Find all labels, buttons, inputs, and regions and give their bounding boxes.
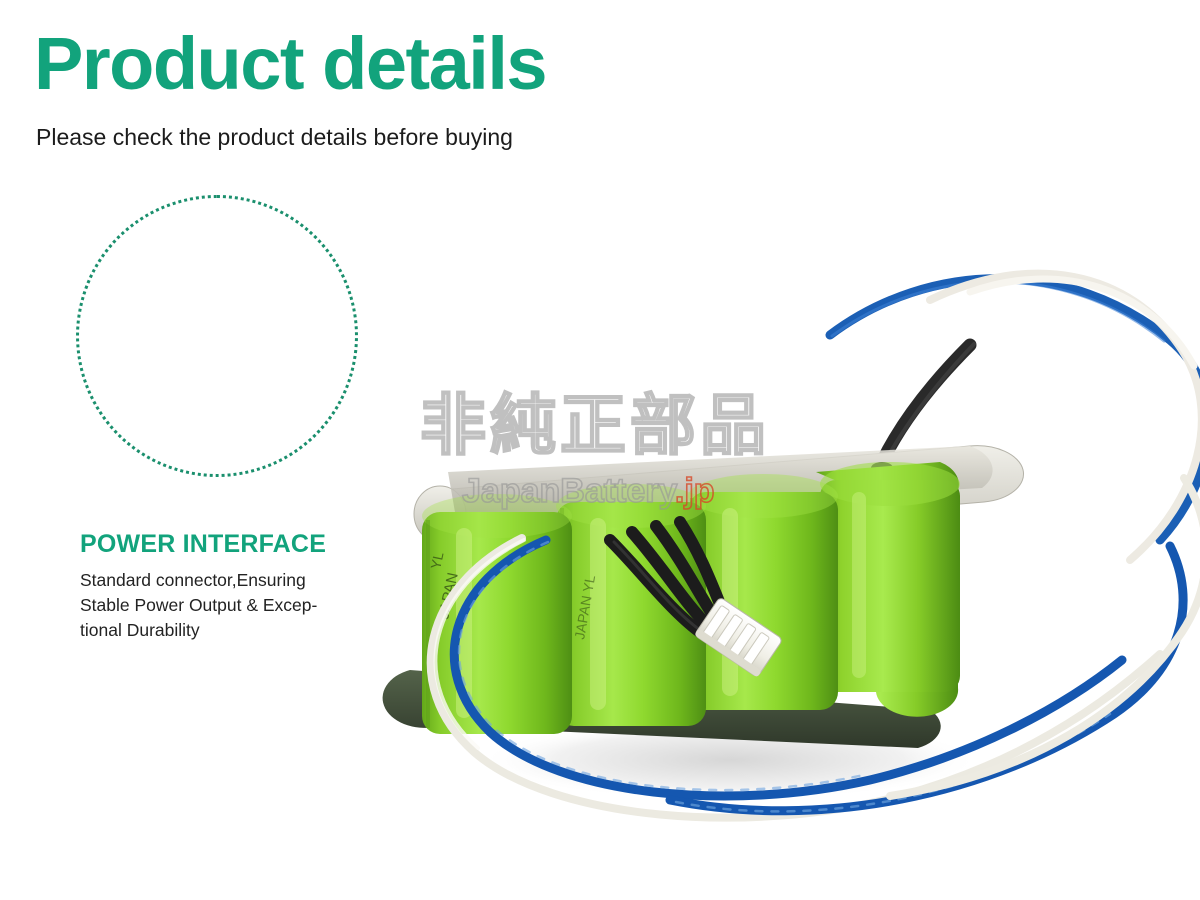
page-subtitle: Please check the product details before …: [36, 122, 513, 152]
product-details-page: Product details Please check the product…: [0, 0, 1200, 900]
feature-description: Standard connector,Ensuring Stable Power…: [80, 568, 380, 643]
feature-description-line-2: Stable Power Output & Excep-: [80, 593, 380, 618]
feature-description-line-1: Standard connector,Ensuring: [80, 568, 380, 593]
feature-description-line-3: tional Durability: [80, 618, 380, 643]
feature-title: POWER INTERFACE: [80, 530, 326, 559]
power-interface-feature: POWER INTERFACE Standard connector,Ensur…: [0, 190, 400, 670]
product-photo: JAPAN YL JAPAN YL: [370, 240, 1200, 840]
page-title: Product details: [34, 22, 546, 106]
inset-dotted-circle: [76, 195, 358, 477]
